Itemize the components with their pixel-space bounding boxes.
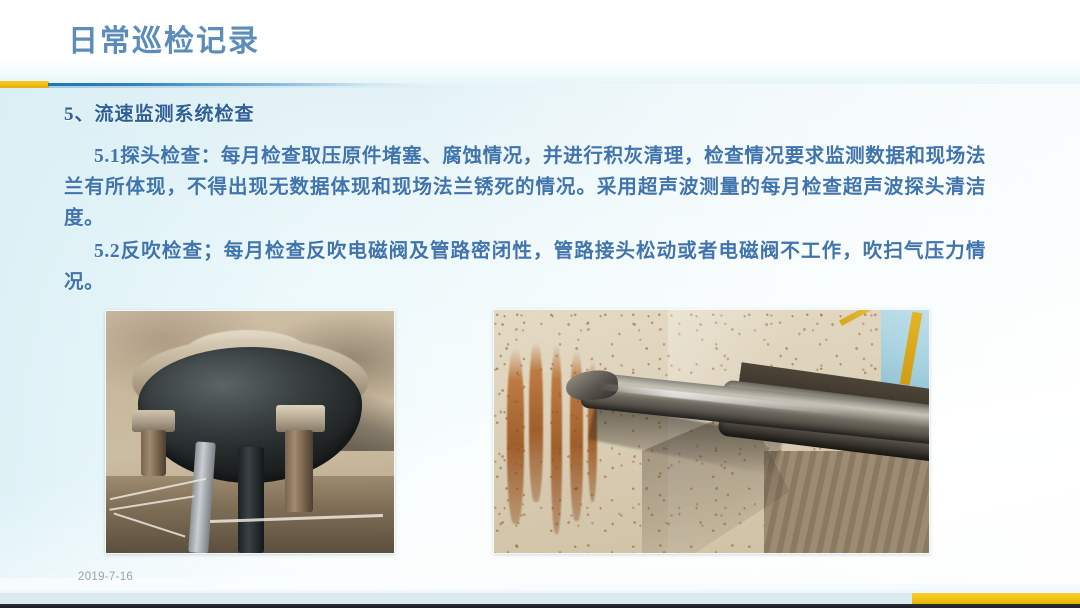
- gold-accent-rule: [0, 81, 49, 88]
- rust-streak-1: [507, 349, 524, 524]
- rust-streak-2: [529, 342, 543, 502]
- blowback-pipe-photo: [493, 309, 930, 554]
- bolt-rod-right: [285, 430, 314, 512]
- slide-canvas: 日常巡检记录 5、流速监测系统检查 5.1探头检查：每月检查取压原件堵塞、腐蚀情…: [0, 0, 1080, 608]
- blue-accent-rule-soft: [48, 86, 468, 88]
- footer-gold-accent: [912, 593, 1080, 604]
- page-title: 日常巡检记录: [68, 16, 260, 60]
- section-heading: 5、流速监测系统检查: [64, 99, 255, 126]
- bolt-head-left: [132, 410, 175, 432]
- paragraph-blowback-inspection: 5.2反吹检查；每月检查反吹电磁阀及管路密闭性，管路接头松动或者电磁阀不工作，吹…: [64, 236, 986, 298]
- black-pipe: [238, 447, 264, 553]
- header-fade: [0, 58, 1080, 84]
- rust-streak-3: [551, 344, 562, 534]
- paragraph-probe-inspection: 5.1探头检查：每月检查取压原件堵塞、腐蚀情况，并进行积灰清理，检查情况要求监测…: [64, 141, 986, 234]
- bolt-head-right: [276, 405, 325, 432]
- bolt-rod-left: [141, 430, 167, 476]
- flange-probe-photo: [105, 310, 395, 554]
- footer-bottom-line: [0, 604, 1080, 608]
- date-stamp: 2019-7-16: [78, 571, 133, 583]
